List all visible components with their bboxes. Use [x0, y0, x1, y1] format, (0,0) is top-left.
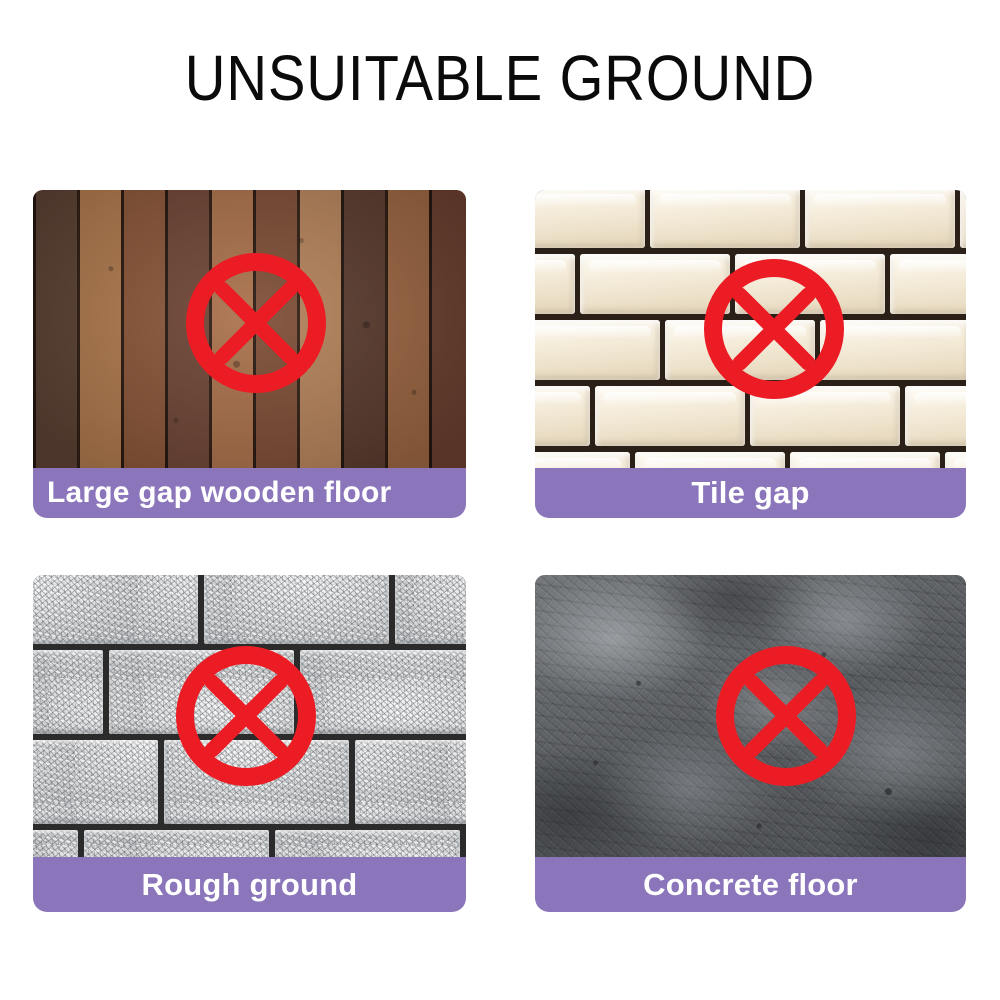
- card-concrete-floor[interactable]: Concrete floor: [535, 575, 966, 912]
- stone-block: [395, 575, 466, 644]
- card-label: Concrete floor: [643, 867, 858, 903]
- stone-row: [33, 647, 466, 737]
- card-caption: Rough ground: [33, 857, 466, 912]
- tile-row: [535, 384, 966, 450]
- tile: [535, 190, 645, 248]
- stone-block: [300, 650, 466, 734]
- stone-block: [84, 830, 269, 860]
- tile: [820, 320, 966, 380]
- stone-row: [33, 827, 466, 860]
- card-rough-ground[interactable]: Rough ground: [33, 575, 466, 912]
- card-caption: Concrete floor: [535, 857, 966, 912]
- tile: [805, 190, 955, 248]
- stone-row: [33, 575, 466, 647]
- tile: [750, 386, 900, 446]
- tile: [535, 320, 660, 380]
- card-caption: Tile gap: [535, 468, 966, 518]
- stone-row: [33, 737, 466, 827]
- stone-block: [33, 575, 198, 644]
- unsuitable-ground-infographic: UNSUITABLE GROUND Large gap wooden floor: [0, 0, 1000, 1000]
- card-label: Rough ground: [142, 867, 358, 903]
- tile: [905, 386, 966, 446]
- texture-concrete: [535, 575, 966, 860]
- tile: [580, 254, 730, 314]
- photo-concrete: [535, 575, 966, 860]
- card-label: Large gap wooden floor: [47, 476, 391, 510]
- tile-row: [535, 252, 966, 318]
- stone-block: [33, 650, 103, 734]
- stone-block: [355, 740, 466, 824]
- tile: [735, 254, 885, 314]
- tile: [595, 386, 745, 446]
- tile: [665, 320, 815, 380]
- stone-block: [164, 740, 349, 824]
- card-large-gap-wooden-floor[interactable]: Large gap wooden floor: [33, 190, 466, 518]
- card-label: Tile gap: [691, 475, 809, 511]
- card-tile-gap[interactable]: Tile gap: [535, 190, 966, 518]
- texture-rough-stone-blocks: [33, 575, 466, 860]
- stone-block: [109, 650, 294, 734]
- photo-rough-stone: [33, 575, 466, 860]
- stone-block: [275, 830, 460, 860]
- photo-wooden-floor: [33, 190, 466, 471]
- tile: [535, 386, 590, 446]
- tile-row: [535, 318, 966, 384]
- tile: [890, 254, 966, 314]
- texture-subway-tile: [535, 190, 966, 471]
- texture-wood-planks: [33, 190, 466, 471]
- stone-block: [33, 830, 78, 860]
- stone-block: [33, 740, 158, 824]
- stone-block: [204, 575, 389, 644]
- photo-tile-wall: [535, 190, 966, 471]
- tile-row: [535, 190, 966, 252]
- card-caption: Large gap wooden floor: [33, 468, 466, 518]
- page-title: UNSUITABLE GROUND: [60, 46, 940, 110]
- tile: [650, 190, 800, 248]
- tile: [960, 190, 966, 248]
- tile: [535, 254, 575, 314]
